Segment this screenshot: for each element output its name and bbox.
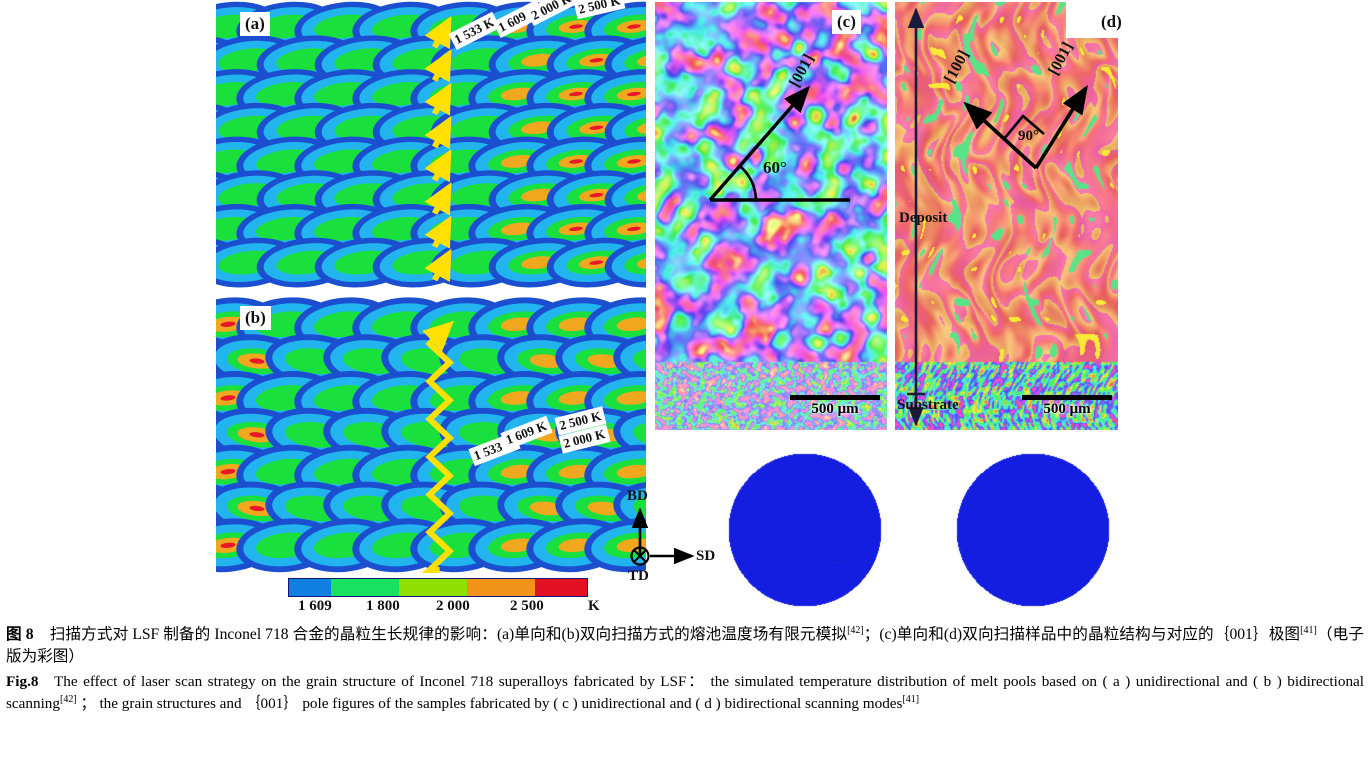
colorbar-tick-labels: 1 6091 8002 0002 500K xyxy=(288,598,618,620)
colorbar-tick: 1 800 xyxy=(366,598,400,615)
scan-arrow xyxy=(435,55,449,81)
caption-en-label: Fig.8 xyxy=(6,673,38,690)
caption-cn-text: 扫描方式对 LSF 制备的 Inconel 718 合金的晶粒生长规律的影响：(… xyxy=(50,626,848,643)
panel-d-substrate-label: Substrate xyxy=(897,397,959,414)
colorbar-segment xyxy=(535,579,587,596)
pole-figure-left-canvas xyxy=(727,452,882,607)
scan-arrow xyxy=(435,21,449,47)
scale-bar-label-d: 500 μm xyxy=(1022,401,1112,418)
panel-d-right-mask xyxy=(1118,0,1124,432)
panel-d-tag: (d) xyxy=(1096,10,1127,34)
colorbar-tick: 2 000 xyxy=(436,598,470,615)
figure-canvas: (a) 1 533 K 1 609 K 2 000 K 2 500 K (b) … xyxy=(0,0,1370,620)
colorbar-unit: K xyxy=(588,598,600,615)
scale-bar-line-c xyxy=(790,395,880,400)
panel-a-tag: (a) xyxy=(240,12,270,36)
panel-d-angle-label: 90° xyxy=(1018,128,1039,145)
panel-c-angle-label: 60° xyxy=(763,158,787,178)
panel-c-scale-bar: 500 μm xyxy=(790,395,880,418)
scan-arrow xyxy=(435,188,449,214)
scan-arrow xyxy=(435,88,449,114)
temperature-colorbar: 1 6091 8002 0002 500K xyxy=(288,578,618,620)
colorbar-segment xyxy=(331,579,399,596)
panel-b-tag: (b) xyxy=(240,306,271,330)
scan-arrow xyxy=(435,154,449,180)
scan-arrow xyxy=(435,121,449,147)
axis-label-bd: BD xyxy=(627,488,648,505)
figure-caption: 图 8 扫描方式对 LSF 制备的 Inconel 718 合金的晶粒生长规律的… xyxy=(6,624,1364,715)
caption-cn-ref-42: [42] xyxy=(847,625,864,636)
caption-cn-text2: ；(c)单向和(d)双向扫描样品中的晶粒结构与对应的｛001｝极图 xyxy=(864,626,1300,643)
colorbar-segment xyxy=(399,579,467,596)
scan-arrow xyxy=(435,221,449,247)
panel-c-tag: (c) xyxy=(832,10,861,34)
scale-bar-line-d xyxy=(1022,395,1112,400)
colorbar-segment xyxy=(467,579,535,596)
colorbar-tick: 2 500 xyxy=(510,598,544,615)
axis-label-sd: SD xyxy=(696,548,715,565)
axes-triad: BD SD TD xyxy=(600,490,720,590)
caption-chinese: 图 8 扫描方式对 LSF 制备的 Inconel 718 合金的晶粒生长规律的… xyxy=(6,624,1364,668)
panel-d-scale-bar: 500 μm xyxy=(1022,395,1112,418)
caption-en-text2: ； the grain structures and ｛001｝ pole fi… xyxy=(77,695,903,712)
pole-figure-right-canvas xyxy=(955,452,1110,607)
caption-cn-ref-41: [41] xyxy=(1300,625,1317,636)
scan-arrow xyxy=(435,254,449,280)
panel-c-orientation-annotation xyxy=(690,60,880,220)
colorbar-strip xyxy=(288,578,588,597)
caption-en-ref-42: [42] xyxy=(60,694,77,705)
scale-bar-label-c: 500 μm xyxy=(790,401,880,418)
scan-arrow-zigzag xyxy=(430,325,450,570)
pole-figure-right xyxy=(955,452,1110,607)
scan-direction-arrows xyxy=(216,0,646,290)
panel-a-melt-pool-simulation xyxy=(216,0,646,290)
colorbar-segment xyxy=(289,579,331,596)
caption-english: Fig.8 The effect of laser scan strategy … xyxy=(6,671,1364,714)
pole-figure-left xyxy=(727,452,882,607)
caption-cn-label: 图 8 xyxy=(6,626,34,643)
caption-en-ref-41: [41] xyxy=(902,694,919,705)
axis-label-td: TD xyxy=(628,568,649,585)
colorbar-tick: 1 609 xyxy=(298,598,332,615)
